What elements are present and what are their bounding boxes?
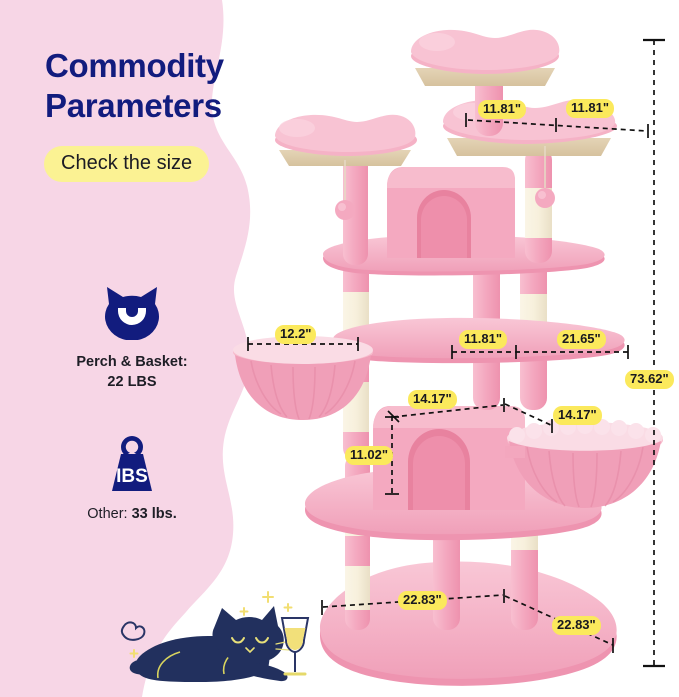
lounging-cat-with-wine-glass-illustration xyxy=(118,578,326,688)
cat-face-icon xyxy=(42,280,222,344)
dim-label-condo-height: 11.02" xyxy=(345,446,393,465)
lower-condo xyxy=(373,406,525,510)
dim-label-left-basket: 12.2" xyxy=(275,325,316,344)
dim-label-top-right-perch: 11.81" xyxy=(566,99,614,118)
spec-perch-basket: Perch & Basket: 22 LBS xyxy=(42,280,222,392)
spec-other-weight: IBS Other: 33 lbs. xyxy=(42,432,222,524)
upper-condo xyxy=(387,167,515,258)
check-the-size-badge: Check the size xyxy=(44,146,209,182)
left-top-perch xyxy=(275,115,417,166)
dim-label-mid-shelf-right: 21.65" xyxy=(557,330,606,349)
dim-label-mid-shelf-left: 11.81" xyxy=(459,330,507,349)
weight-lbs-icon: IBS xyxy=(42,432,222,496)
wine-glass-icon xyxy=(282,618,308,674)
dim-label-base-left: 22.83" xyxy=(398,591,447,610)
cat-puff-icon xyxy=(122,622,145,639)
spec-other-value: 33 lbs. xyxy=(132,506,177,522)
spec-other-label: Other: 33 lbs. xyxy=(42,504,222,524)
dim-label-condo-top-left: 14.17" xyxy=(408,390,457,409)
spec-perch-value: 22 LBS xyxy=(107,374,156,390)
spec-perch-title: Perch & Basket: xyxy=(76,354,187,370)
weight-icon-text: IBS xyxy=(116,466,148,487)
dim-label-total-height: 73.62" xyxy=(625,370,674,389)
spec-other-title: Other: xyxy=(87,506,127,522)
title-line-1: Commodity xyxy=(45,47,224,84)
dim-label-base-right: 22.83" xyxy=(552,616,601,635)
top-perch xyxy=(411,30,559,86)
infographic-canvas: Commodity Parameters Check the size Perc… xyxy=(0,0,679,697)
dim-label-condo-top-right: 14.17" xyxy=(553,406,602,425)
spec-perch-label: Perch & Basket: 22 LBS xyxy=(42,352,222,392)
dim-label-top-left-perch: 11.81" xyxy=(478,100,526,119)
